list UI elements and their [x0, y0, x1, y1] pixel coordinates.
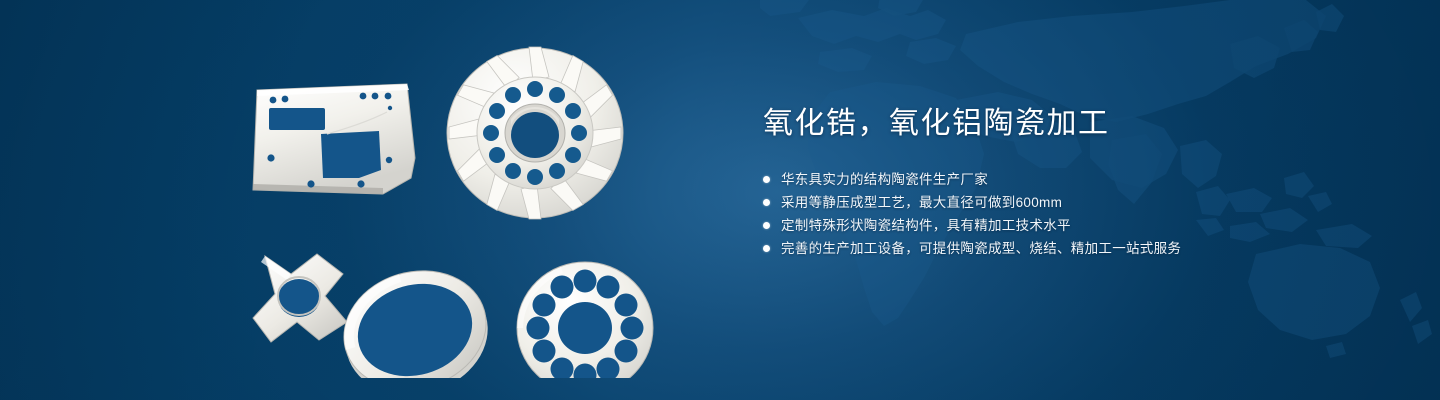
list-item: 采用等静压成型工艺，最大直径可做到600mm: [763, 191, 1383, 214]
feature-text: 采用等静压成型工艺，最大直径可做到600mm: [781, 191, 1062, 214]
ceramic-products-image: [235, 38, 695, 378]
ceramic-perforated-disc-shape: [517, 262, 653, 378]
feature-list: 华东具实力的结构陶瓷件生产厂家 采用等静压成型工艺，最大直径可做到600mm 定…: [763, 168, 1383, 260]
banner-copy: 氧化锆，氧化铝陶瓷加工 华东具实力的结构陶瓷件生产厂家 采用等静压成型工艺，最大…: [763, 104, 1383, 260]
feature-text: 定制特殊形状陶瓷结构件，具有精加工技术水平: [781, 214, 1071, 237]
ceramic-ring-shape: [330, 254, 502, 378]
bullet-dot-icon: [763, 176, 770, 183]
bullet-dot-icon: [763, 222, 770, 229]
feature-text: 华东具实力的结构陶瓷件生产厂家: [781, 168, 988, 191]
bullet-dot-icon: [763, 245, 770, 252]
ceramic-impeller-shape: [447, 47, 623, 219]
bullet-dot-icon: [763, 199, 770, 206]
feature-text: 完善的生产加工设备，可提供陶瓷成型、烧结、精加工一站式服务: [781, 237, 1181, 260]
banner-headline: 氧化锆，氧化铝陶瓷加工: [763, 104, 1383, 144]
list-item: 完善的生产加工设备，可提供陶瓷成型、烧结、精加工一站式服务: [763, 237, 1383, 260]
ceramic-plate-shape: [253, 84, 415, 194]
ceramic-cross-shape: [253, 254, 347, 342]
list-item: 定制特殊形状陶瓷结构件，具有精加工技术水平: [763, 214, 1383, 237]
promo-banner: 氧化锆，氧化铝陶瓷加工 华东具实力的结构陶瓷件生产厂家 采用等静压成型工艺，最大…: [0, 0, 1440, 400]
list-item: 华东具实力的结构陶瓷件生产厂家: [763, 168, 1383, 191]
